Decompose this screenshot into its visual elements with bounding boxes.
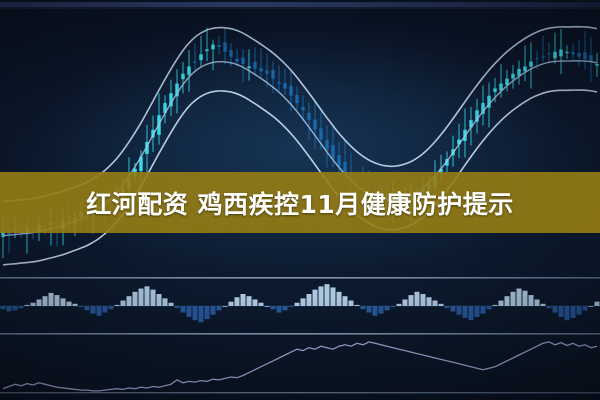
candle-body — [595, 64, 598, 66]
macd-bar — [114, 305, 119, 306]
macd-bar — [48, 293, 53, 306]
macd-bar — [540, 304, 545, 306]
candle-body — [535, 58, 538, 59]
macd-bar — [372, 306, 377, 316]
macd-bar — [246, 296, 251, 306]
macd-bar — [36, 299, 41, 306]
candle-body — [319, 128, 322, 139]
macd-bar — [240, 294, 245, 306]
macd-bar — [462, 306, 467, 318]
macd-bar — [276, 306, 281, 313]
macd-bar — [174, 306, 179, 308]
macd-bar — [432, 301, 437, 306]
macd-bar — [282, 306, 287, 310]
candle-body — [583, 52, 586, 59]
macd-bar — [192, 306, 197, 320]
macd-bar — [414, 292, 419, 306]
macd-bar — [84, 306, 89, 310]
macd-bar — [342, 296, 347, 306]
macd-bar — [408, 295, 413, 306]
macd-bar — [420, 294, 425, 306]
candle-body — [259, 68, 262, 71]
macd-bar — [528, 295, 533, 306]
candle-body — [529, 62, 532, 67]
candle-body — [223, 42, 226, 51]
macd-bar — [474, 306, 479, 317]
macd-bar — [66, 302, 71, 306]
macd-bar — [516, 289, 521, 306]
macd-bar — [492, 305, 497, 306]
macd-bar — [6, 306, 11, 311]
candle-body — [571, 52, 574, 54]
macd-bar — [258, 303, 263, 306]
candle-body — [229, 50, 232, 57]
candle-body — [331, 145, 334, 159]
macd-bar — [354, 305, 359, 306]
panel-divider-2-shadow — [0, 335, 600, 336]
macd-bar — [330, 287, 335, 306]
macd-bar — [120, 301, 125, 306]
macd-bar — [348, 301, 353, 306]
macd-bar — [138, 289, 143, 306]
macd-bar — [486, 306, 491, 309]
macd-bar — [18, 306, 23, 308]
candle-body — [181, 74, 184, 79]
candle-body — [511, 74, 514, 79]
candle-body — [217, 45, 220, 47]
macd-bar — [468, 306, 473, 320]
macd-bar — [570, 306, 575, 318]
macd-bar — [546, 306, 551, 308]
candle-body — [523, 66, 526, 71]
candle-body — [589, 55, 592, 61]
candle-body — [283, 83, 286, 88]
macd-bar — [300, 298, 305, 306]
macd-bar — [72, 304, 77, 306]
panel-divider-1 — [0, 277, 600, 279]
macd-bar — [168, 303, 173, 306]
candle-body — [307, 113, 310, 120]
macd-bar — [60, 298, 65, 306]
macd-bar — [324, 284, 329, 306]
macd-bar — [264, 306, 269, 307]
macd-bar — [270, 306, 275, 309]
macd-bar — [180, 306, 185, 313]
panel-divider-2 — [0, 333, 600, 335]
macd-bar — [126, 296, 131, 306]
macd-bar — [318, 286, 323, 306]
candle-body — [205, 49, 208, 51]
macd-bar — [162, 298, 167, 306]
macd-bar — [150, 290, 155, 306]
panel-divider-1-shadow — [0, 279, 600, 280]
macd-bar — [564, 306, 569, 320]
macd-bar — [456, 306, 461, 315]
macd-bar — [444, 306, 449, 308]
macd-bar — [294, 303, 299, 306]
macd-bar — [480, 306, 485, 314]
chart-glow — [20, 20, 580, 280]
candle-body — [253, 62, 256, 69]
macd-bar — [0, 306, 5, 309]
macd-bar — [582, 306, 587, 310]
candle-body — [325, 140, 328, 149]
macd-bar — [144, 286, 149, 306]
macd-bar — [108, 306, 113, 309]
macd-bar — [216, 306, 221, 310]
macd-bar — [336, 292, 341, 306]
macd-bar — [24, 305, 29, 306]
macd-bar — [426, 297, 431, 306]
macd-bar — [222, 306, 227, 307]
candle-body — [265, 70, 268, 73]
macd-bar — [210, 306, 215, 315]
macd-bar — [42, 296, 47, 306]
macd-bar — [102, 306, 107, 313]
macd-bar — [378, 306, 383, 314]
macd-bar — [498, 301, 503, 306]
candle-body — [313, 119, 316, 129]
candle-body — [235, 59, 238, 62]
macd-bar — [90, 306, 95, 314]
candle-body — [277, 82, 280, 83]
macd-bar — [96, 306, 101, 316]
macd-bar — [552, 306, 557, 313]
macd-bar — [78, 306, 83, 307]
panel-divider-3 — [0, 392, 600, 393]
candle-body — [547, 53, 550, 54]
macd-bar — [54, 295, 59, 306]
macd-bar — [186, 306, 191, 317]
top-band — [0, 2, 600, 7]
candle-body — [193, 61, 196, 62]
macd-bar — [204, 306, 209, 319]
macd-bar — [450, 306, 455, 311]
candle-body — [199, 54, 202, 60]
macd-bar — [252, 299, 257, 306]
macd-bar — [594, 302, 599, 306]
candle-body — [241, 58, 244, 64]
candle-body — [565, 52, 568, 53]
macd-bar — [384, 306, 389, 310]
macd-bar — [288, 306, 293, 307]
macd-bar — [156, 294, 161, 306]
page-title: 红河配资 鸡西疾控11月健康防护提示 — [86, 185, 514, 221]
macd-bar — [402, 299, 407, 306]
top-band-shadow — [0, 7, 600, 9]
macd-bar — [510, 292, 515, 306]
candle-body — [553, 52, 556, 59]
candle-body — [337, 155, 340, 166]
candle-body — [289, 86, 292, 96]
macd-bar — [576, 306, 581, 315]
candle-body — [541, 57, 544, 58]
macd-bar — [198, 306, 203, 322]
macd-bar — [438, 304, 443, 306]
macd-bar — [396, 304, 401, 306]
macd-bar — [12, 306, 17, 310]
candle-body — [301, 107, 304, 110]
macd-bar — [30, 303, 35, 306]
candle-body — [211, 45, 214, 50]
macd-bar — [360, 306, 365, 309]
title-banner: 红河配资 鸡西疾控11月健康防护提示 — [0, 172, 600, 233]
macd-bar — [132, 292, 137, 306]
macd-bar — [558, 306, 563, 317]
candle-body — [247, 66, 250, 68]
macd-bar — [504, 296, 509, 306]
macd-bar — [390, 306, 395, 307]
candle-body — [271, 70, 274, 79]
macd-bar — [588, 306, 593, 307]
macd-bar — [534, 299, 539, 306]
candle-body — [517, 69, 520, 76]
macd-bar — [366, 306, 371, 313]
bottom-band — [0, 394, 600, 400]
candle-body — [187, 66, 190, 74]
macd-bar — [228, 302, 233, 306]
candle-body — [295, 95, 298, 103]
candle-body — [559, 49, 562, 56]
macd-bar — [306, 294, 311, 306]
macd-bar — [312, 290, 317, 306]
macd-bar — [234, 297, 239, 306]
screenshot-canvas: 股票配资 红河配资 鸡西疾控11月健康防护提示 — [0, 0, 600, 400]
candle-body — [577, 53, 580, 57]
candle-body — [493, 88, 496, 91]
macd-bar — [522, 291, 527, 306]
